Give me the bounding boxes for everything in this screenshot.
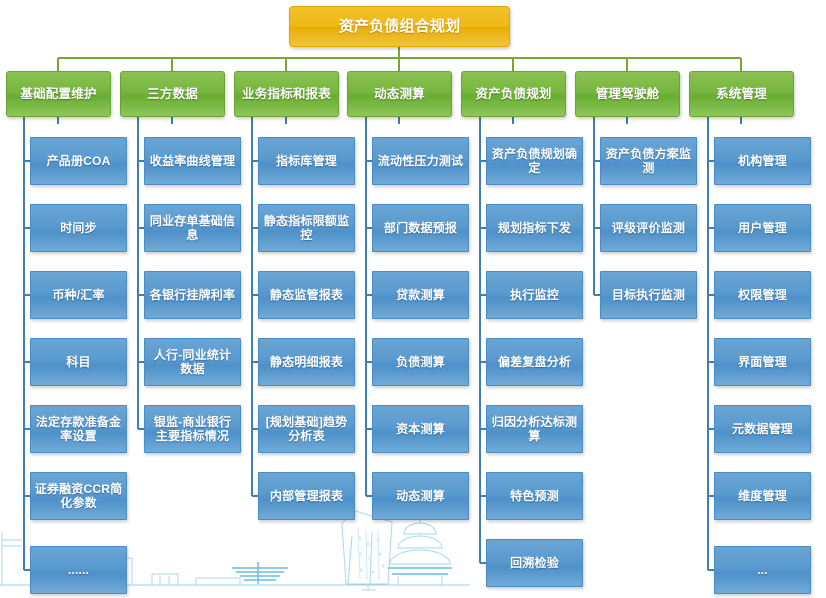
leaf-node[interactable]: 维度管理	[714, 472, 811, 520]
column-header-0[interactable]: 基础配置维护	[6, 71, 111, 117]
leaf-node[interactable]: 币种/汇率	[30, 271, 127, 319]
leaf-label: 贷款测算	[396, 288, 445, 302]
leaf-label: 静态明细报表	[270, 355, 343, 369]
leaf-node[interactable]: 收益率曲线管理	[144, 137, 241, 185]
leaf-node[interactable]: 评级评价监测	[600, 204, 697, 252]
leaf-node[interactable]: 各银行挂牌利率	[144, 271, 241, 319]
diagram-title-label: 资产负债组合规划	[339, 18, 461, 36]
leaf-node[interactable]: ...	[714, 546, 811, 594]
leaf-node[interactable]: 银监-商业银行主要指标情况	[144, 405, 241, 453]
leaf-label: 界面管理	[738, 355, 787, 369]
leaf-node[interactable]: ......	[30, 546, 127, 594]
leaf-label: 法定存款准备金率设置	[34, 415, 123, 443]
leaf-label: 执行监控	[510, 288, 559, 302]
leaf-node[interactable]: 法定存款准备金率设置	[30, 405, 127, 453]
leaf-node[interactable]: 权限管理	[714, 271, 811, 319]
leaf-label: 内部管理报表	[270, 489, 343, 503]
leaf-label: 指标库管理	[276, 154, 337, 168]
leaf-node[interactable]: 特色预测	[486, 472, 583, 520]
leaf-node[interactable]: 人行-同业统计数据	[144, 338, 241, 386]
leaf-node[interactable]: 资产负债规划确定	[486, 137, 583, 185]
diagram-title[interactable]: 资产负债组合规划	[289, 6, 510, 47]
leaf-node[interactable]: 规划指标下发	[486, 204, 583, 252]
leaf-label: 规划指标下发	[498, 221, 571, 235]
leaf-node[interactable]: 指标库管理	[258, 137, 355, 185]
leaf-label: 银监-商业银行主要指标情况	[148, 415, 237, 443]
leaf-node[interactable]: 产品册COA	[30, 137, 127, 185]
leaf-label: 各银行挂牌利率	[150, 288, 235, 302]
column-header-label: 资产负债规划	[475, 87, 551, 102]
leaf-label: 部门数据预报	[384, 221, 457, 235]
leaf-node[interactable]: [规划基础]趋势分析表	[258, 405, 355, 453]
column-header-4[interactable]: 资产负债规划	[461, 71, 566, 117]
column-header-label: 三方数据	[147, 87, 198, 102]
leaf-label: 动态测算	[396, 489, 445, 503]
leaf-label: 同业存单基础信息	[148, 214, 237, 242]
leaf-label: 资本测算	[396, 422, 445, 436]
leaf-node[interactable]: 科目	[30, 338, 127, 386]
leaf-label: 科目	[66, 355, 90, 369]
leaf-node[interactable]: 执行监控	[486, 271, 583, 319]
column-header-label: 管理驾驶舱	[596, 87, 660, 102]
leaf-node[interactable]: 用户管理	[714, 204, 811, 252]
leaf-label: 资产负债方案监测	[604, 147, 693, 175]
leaf-node[interactable]: 偏差复盘分析	[486, 338, 583, 386]
leaf-label: 负债测算	[396, 355, 445, 369]
leaf-label: 偏差复盘分析	[498, 355, 571, 369]
leaf-label: 回溯检验	[510, 556, 559, 570]
column-header-5[interactable]: 管理驾驶舱	[575, 71, 680, 117]
leaf-node[interactable]: 元数据管理	[714, 405, 811, 453]
leaf-node[interactable]: 证券融资CCR简化参数	[30, 472, 127, 520]
leaf-label: 证券融资CCR简化参数	[34, 482, 123, 510]
leaf-node[interactable]: 归因分析达标测算	[486, 405, 583, 453]
leaf-node[interactable]: 同业存单基础信息	[144, 204, 241, 252]
leaf-label: 静态监管报表	[270, 288, 343, 302]
leaf-label: 资产负债规划确定	[490, 147, 579, 175]
org-chart-canvas: 资产负债组合规划 基础配置维护 三方数据 业务指标和报表 动态测算 资产负债规划…	[0, 0, 826, 598]
leaf-label: ...	[757, 563, 768, 577]
leaf-label: 机构管理	[738, 154, 787, 168]
leaf-label: 权限管理	[738, 288, 787, 302]
leaf-label: 时间步	[60, 221, 97, 235]
leaf-label: 产品册COA	[47, 154, 111, 168]
leaf-node[interactable]: 静态指标限额监控	[258, 204, 355, 252]
leaf-node[interactable]: 部门数据预报	[372, 204, 469, 252]
leaf-label: 目标执行监测	[612, 288, 685, 302]
leaf-node[interactable]: 内部管理报表	[258, 472, 355, 520]
leaf-label: 评级评价监测	[612, 221, 685, 235]
leaf-label: 流动性压力测试	[378, 154, 463, 168]
column-header-1[interactable]: 三方数据	[120, 71, 225, 117]
leaf-label: ......	[68, 563, 89, 577]
leaf-node[interactable]: 资产负债方案监测	[600, 137, 697, 185]
leaf-label: [规划基础]趋势分析表	[262, 415, 351, 443]
leaf-node[interactable]: 动态测算	[372, 472, 469, 520]
column-header-3[interactable]: 动态测算	[347, 71, 452, 117]
leaf-node[interactable]: 界面管理	[714, 338, 811, 386]
leaf-node[interactable]: 资本测算	[372, 405, 469, 453]
leaf-label: 特色预测	[510, 489, 559, 503]
leaf-node[interactable]: 静态监管报表	[258, 271, 355, 319]
leaf-node[interactable]: 机构管理	[714, 137, 811, 185]
leaf-node[interactable]: 静态明细报表	[258, 338, 355, 386]
leaf-label: 维度管理	[738, 489, 787, 503]
column-header-label: 系统管理	[716, 87, 767, 102]
column-header-label: 业务指标和报表	[242, 87, 331, 102]
leaf-label: 人行-同业统计数据	[148, 348, 237, 376]
column-header-label: 动态测算	[374, 87, 425, 102]
leaf-node[interactable]: 负债测算	[372, 338, 469, 386]
leaf-label: 元数据管理	[732, 422, 793, 436]
leaf-node[interactable]: 贷款测算	[372, 271, 469, 319]
leaf-node[interactable]: 回溯检验	[486, 539, 583, 587]
leaf-label: 用户管理	[738, 221, 787, 235]
leaf-label: 静态指标限额监控	[262, 214, 351, 242]
column-header-label: 基础配置维护	[20, 87, 96, 102]
leaf-label: 币种/汇率	[52, 288, 104, 302]
column-header-2[interactable]: 业务指标和报表	[234, 71, 339, 117]
leaf-node[interactable]: 时间步	[30, 204, 127, 252]
leaf-node[interactable]: 流动性压力测试	[372, 137, 469, 185]
leaf-label: 归因分析达标测算	[490, 415, 579, 443]
leaf-label: 收益率曲线管理	[150, 154, 235, 168]
column-header-6[interactable]: 系统管理	[689, 71, 794, 117]
leaf-node[interactable]: 目标执行监测	[600, 271, 697, 319]
